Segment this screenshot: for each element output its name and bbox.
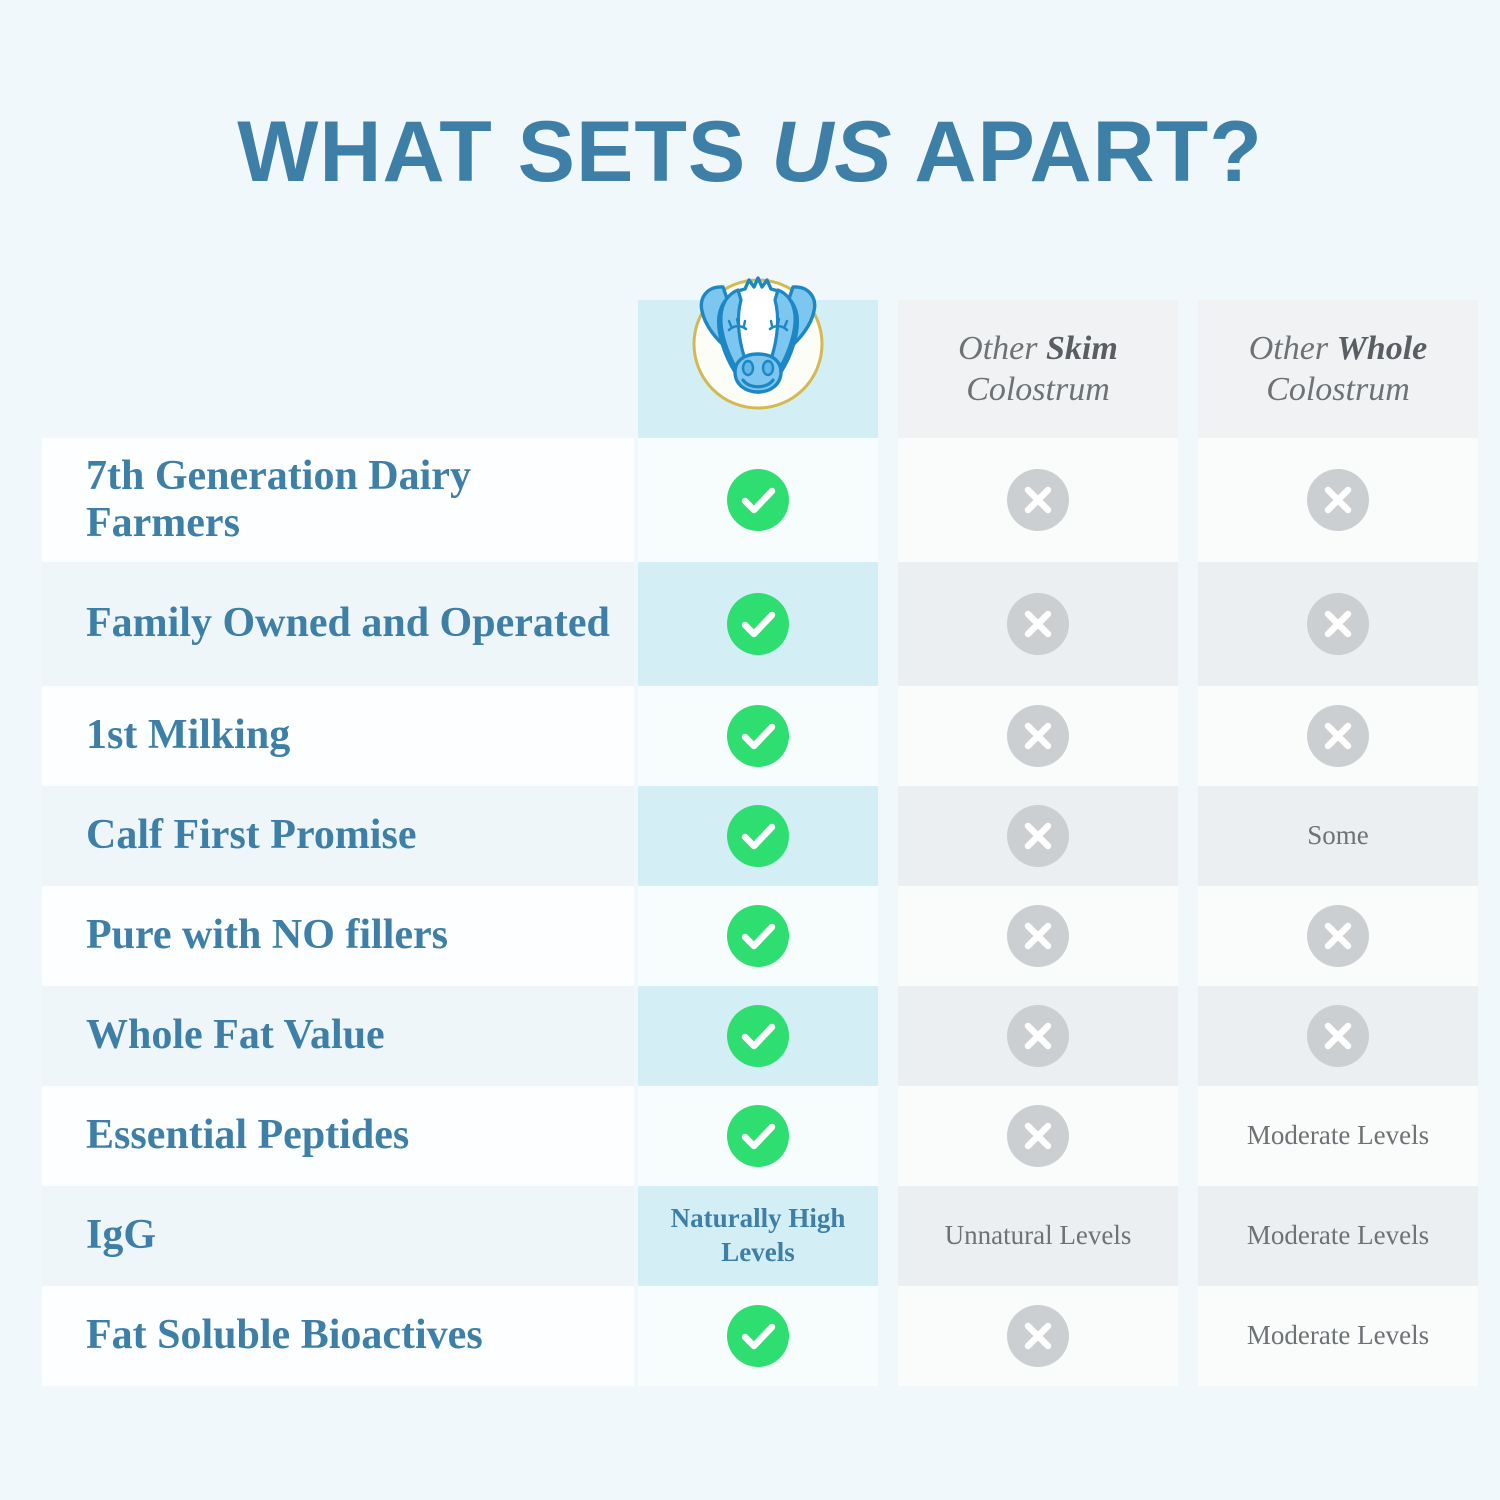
column-gap	[878, 300, 898, 438]
cross-circle-icon	[1007, 705, 1069, 767]
table-row: Family Owned and Operated	[42, 562, 1443, 686]
other-whole-label-regular: Other	[1249, 330, 1337, 367]
comparison-table: Other Skim Colostrum Other Whole Colostr…	[42, 300, 1443, 1386]
check-circle-icon	[727, 705, 789, 767]
cell-brand	[638, 1286, 878, 1386]
column-gap	[878, 786, 898, 886]
row-feature-cell: Whole Fat Value	[42, 986, 634, 1086]
other-skim-label-regular: Other	[958, 330, 1046, 367]
table-row: IgG Naturally High Levels Unnatural Leve…	[42, 1186, 1443, 1286]
cell-other-skim: Unnatural Levels	[898, 1186, 1178, 1286]
other-whole-label-bold: Whole	[1337, 330, 1428, 367]
cell-other-skim	[898, 886, 1178, 986]
cross-circle-icon	[1007, 469, 1069, 531]
cross-circle-icon	[1307, 705, 1369, 767]
cell-brand	[638, 562, 878, 686]
row-feature-cell: Essential Peptides	[42, 1086, 634, 1186]
check-circle-icon	[727, 805, 789, 867]
cell-brand: Naturally High Levels	[638, 1186, 878, 1286]
column-gap	[1178, 686, 1198, 786]
cell-value-text: Moderate Levels	[1239, 1219, 1437, 1253]
row-feature-cell: Family Owned and Operated	[42, 562, 634, 686]
row-feature-cell: Calf First Promise	[42, 786, 634, 886]
comparison-infographic: WHAT SETS US APART? Other Skim Colostrum…	[0, 0, 1500, 1500]
table-row: Fat Soluble Bioactives Moderate Levels	[42, 1286, 1443, 1386]
cross-circle-icon	[1007, 1305, 1069, 1367]
check-circle-icon	[727, 469, 789, 531]
row-label: Pure with NO fillers	[86, 912, 448, 959]
page-title: WHAT SETS US APART?	[0, 103, 1500, 202]
header-feature-cell	[42, 300, 634, 438]
cell-other-skim	[898, 986, 1178, 1086]
cell-other-skim	[898, 686, 1178, 786]
cell-other-whole	[1198, 562, 1478, 686]
cell-value-text: Moderate Levels	[1239, 1119, 1437, 1153]
cell-other-skim	[898, 1286, 1178, 1386]
column-gap	[878, 1086, 898, 1186]
cell-brand	[638, 786, 878, 886]
cell-other-whole	[1198, 438, 1478, 562]
other-skim-label: Other Skim Colostrum	[958, 328, 1118, 411]
row-label: Whole Fat Value	[86, 1012, 385, 1059]
row-label: 1st Milking	[86, 712, 290, 759]
row-feature-cell: 7th Generation Dairy Farmers	[42, 438, 634, 562]
header-other-whole-cell: Other Whole Colostrum	[1198, 300, 1478, 438]
column-gap	[1178, 562, 1198, 686]
cell-brand	[638, 886, 878, 986]
cell-brand	[638, 438, 878, 562]
cross-circle-icon	[1007, 905, 1069, 967]
column-gap	[878, 1286, 898, 1386]
page-title-emphasis: US	[771, 104, 892, 200]
cell-other-whole	[1198, 686, 1478, 786]
column-gap	[1178, 986, 1198, 1086]
check-circle-icon	[727, 905, 789, 967]
cell-other-skim	[898, 562, 1178, 686]
cell-value-text: Moderate Levels	[1239, 1319, 1437, 1353]
table-row: Pure with NO fillers	[42, 886, 1443, 986]
cell-other-whole: Moderate Levels	[1198, 1086, 1478, 1186]
cross-circle-icon	[1007, 593, 1069, 655]
cross-circle-icon	[1007, 1105, 1069, 1167]
row-feature-cell: 1st Milking	[42, 686, 634, 786]
row-label: Essential Peptides	[86, 1112, 409, 1159]
column-gap	[1178, 300, 1198, 438]
row-label: 7th Generation Dairy Farmers	[86, 453, 634, 547]
check-circle-icon	[727, 1305, 789, 1367]
other-skim-label-line2: Colostrum	[966, 371, 1110, 408]
cross-circle-icon	[1307, 905, 1369, 967]
cell-brand	[638, 686, 878, 786]
cell-other-whole: Some	[1198, 786, 1478, 886]
cross-circle-icon	[1307, 469, 1369, 531]
cell-value-text: Naturally High Levels	[638, 1202, 878, 1270]
table-row: Whole Fat Value	[42, 986, 1443, 1086]
page-title-prefix: WHAT SETS	[237, 104, 771, 200]
column-gap	[1178, 1286, 1198, 1386]
cell-brand	[638, 1086, 878, 1186]
page-title-suffix: APART?	[893, 104, 1263, 200]
column-gap	[878, 686, 898, 786]
column-gap	[878, 438, 898, 562]
table-header-row: Other Skim Colostrum Other Whole Colostr…	[42, 300, 1443, 438]
check-circle-icon	[727, 593, 789, 655]
column-gap	[1178, 1086, 1198, 1186]
check-circle-icon	[727, 1105, 789, 1167]
other-whole-label-line2: Colostrum	[1266, 371, 1410, 408]
row-label: Family Owned and Operated	[86, 600, 610, 647]
other-whole-label: Other Whole Colostrum	[1249, 328, 1428, 411]
row-label: Calf First Promise	[86, 812, 416, 859]
cell-other-skim	[898, 1086, 1178, 1186]
cell-other-whole: Moderate Levels	[1198, 1286, 1478, 1386]
cross-circle-icon	[1307, 593, 1369, 655]
row-feature-cell: Fat Soluble Bioactives	[42, 1286, 634, 1386]
column-gap	[878, 1186, 898, 1286]
cell-value-text: Some	[1299, 819, 1377, 853]
table-row: Calf First Promise Some	[42, 786, 1443, 886]
row-label: IgG	[86, 1212, 156, 1259]
row-feature-cell: Pure with NO fillers	[42, 886, 634, 986]
cell-value-text: Unnatural Levels	[937, 1219, 1140, 1253]
row-label: Fat Soluble Bioactives	[86, 1312, 483, 1359]
other-skim-label-bold: Skim	[1046, 330, 1118, 367]
header-brand-cell	[638, 300, 878, 438]
row-feature-cell: IgG	[42, 1186, 634, 1286]
cell-other-skim	[898, 438, 1178, 562]
column-gap	[1178, 1186, 1198, 1286]
table-row: 7th Generation Dairy Farmers	[42, 438, 1443, 562]
header-other-skim-cell: Other Skim Colostrum	[898, 300, 1178, 438]
cross-circle-icon	[1007, 805, 1069, 867]
column-gap	[1178, 886, 1198, 986]
table-row: 1st Milking	[42, 686, 1443, 786]
cell-other-whole	[1198, 886, 1478, 986]
column-gap	[1178, 438, 1198, 562]
cell-brand	[638, 986, 878, 1086]
cell-other-skim	[898, 786, 1178, 886]
cross-circle-icon	[1007, 1005, 1069, 1067]
column-gap	[878, 562, 898, 686]
table-row: Essential Peptides Moderate Levels	[42, 1086, 1443, 1186]
check-circle-icon	[727, 1005, 789, 1067]
column-gap	[878, 886, 898, 986]
cross-circle-icon	[1307, 1005, 1369, 1067]
column-gap	[1178, 786, 1198, 886]
column-gap	[878, 986, 898, 1086]
cell-other-whole	[1198, 986, 1478, 1086]
cell-other-whole: Moderate Levels	[1198, 1186, 1478, 1286]
